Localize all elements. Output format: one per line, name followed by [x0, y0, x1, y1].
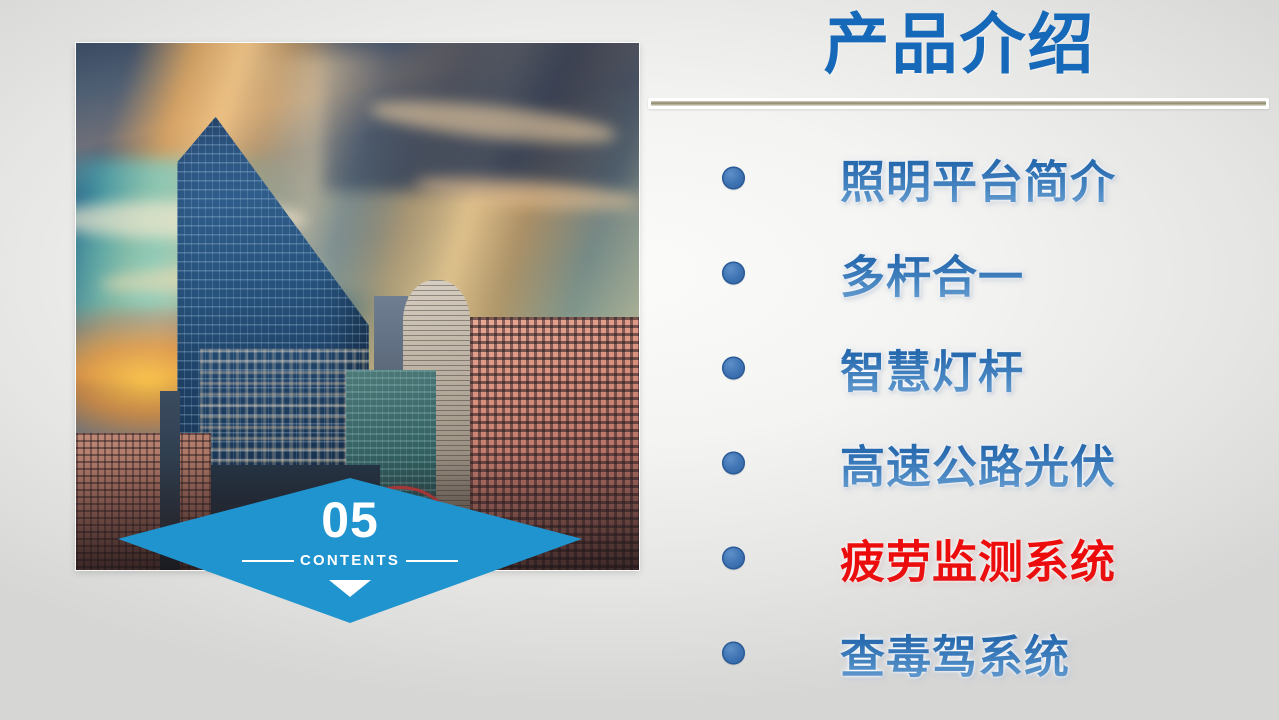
rule-right-icon	[406, 560, 458, 562]
contents-label: CONTENTS	[300, 552, 400, 569]
page-title: 产品介绍	[640, 8, 1279, 82]
agenda-item-label: 照明平台简介	[840, 145, 1116, 210]
agenda-list: 照明平台简介 多杆合一 智慧灯杆 高速公路光伏 疲劳监测系统 查毒驾系统	[640, 130, 1279, 700]
contents-badge-content: 05 CONTENTS	[118, 478, 582, 623]
bullet-dot-icon	[722, 261, 745, 284]
bullet-dot-icon	[722, 546, 745, 569]
bullet-dot-icon	[722, 451, 745, 474]
list-item[interactable]: 多杆合一	[640, 225, 1279, 320]
agenda-item-label-highlighted: 疲劳监测系统	[840, 525, 1116, 590]
bullet-dot-icon	[722, 641, 745, 664]
agenda-item-label: 查毒驾系统	[840, 620, 1070, 685]
agenda-item-label: 高速公路光伏	[840, 430, 1116, 495]
list-item[interactable]: 智慧灯杆	[640, 320, 1279, 415]
bullet-dot-icon	[722, 356, 745, 379]
list-item[interactable]: 照明平台简介	[640, 130, 1279, 225]
rule-left-icon	[242, 560, 294, 562]
caret-down-icon	[329, 580, 371, 597]
title-divider-bar	[651, 101, 1266, 106]
contents-badge: 05 CONTENTS	[118, 478, 582, 623]
contents-number: 05	[321, 495, 379, 545]
list-item[interactable]: 高速公路光伏	[640, 415, 1279, 510]
bullet-dot-icon	[722, 166, 745, 189]
right-pane: 产品介绍 照明平台简介 多杆合一 智慧灯杆 高速公路光伏 疲劳监测系统 查毒驾系…	[640, 0, 1279, 720]
contents-label-row: CONTENTS	[242, 552, 458, 569]
list-item[interactable]: 疲劳监测系统	[640, 510, 1279, 605]
title-divider	[648, 98, 1269, 109]
agenda-item-label: 多杆合一	[840, 240, 1024, 305]
list-item[interactable]: 查毒驾系统	[640, 605, 1279, 700]
agenda-item-label: 智慧灯杆	[840, 335, 1024, 400]
